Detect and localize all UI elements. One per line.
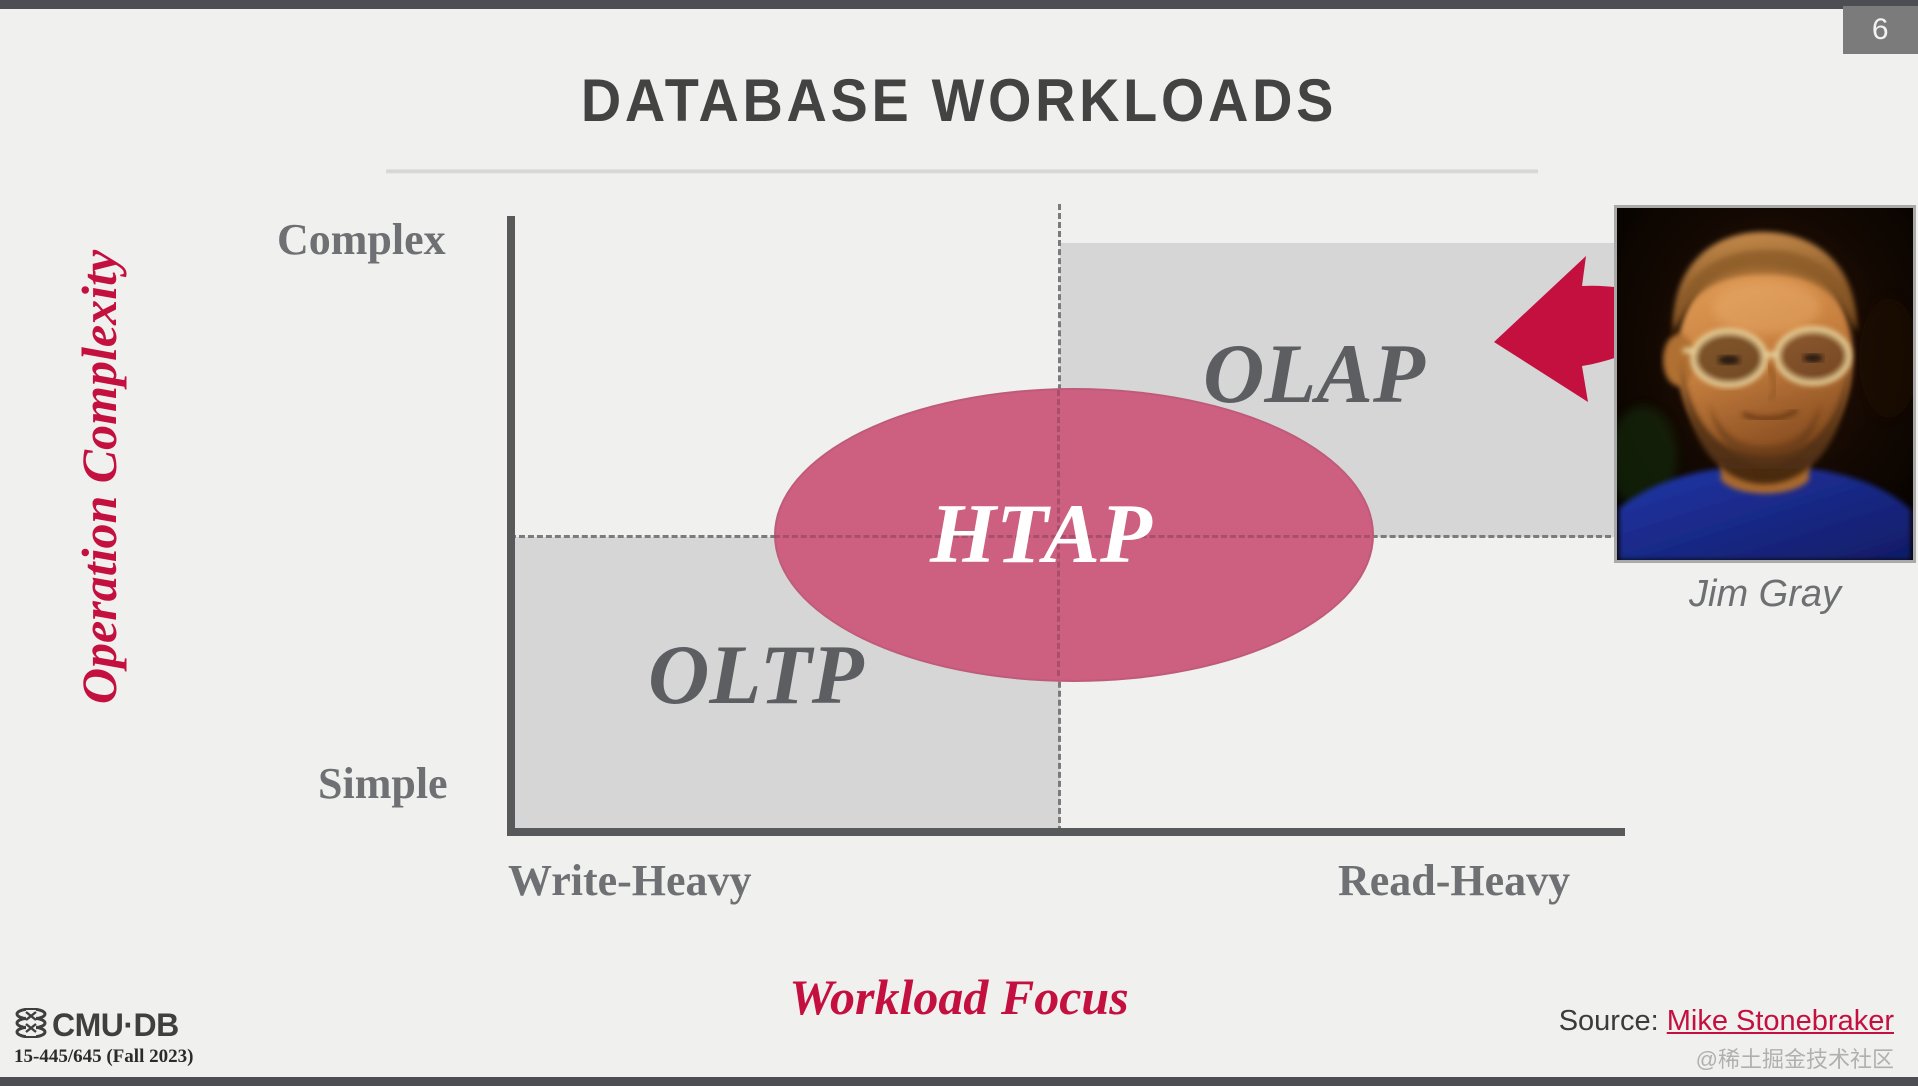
- workload-label-oltp: OLTP: [648, 626, 864, 724]
- x-tick-read-heavy: Read-Heavy: [1338, 855, 1570, 906]
- jim-gray-photo: [1614, 205, 1916, 563]
- watermark-text: @稀土掘金技术社区: [1696, 1042, 1894, 1074]
- bottom-chrome-bar: [0, 1077, 1918, 1086]
- y-tick-simple: Simple: [318, 758, 448, 809]
- portrait-caption: Jim Gray: [1614, 573, 1916, 616]
- y-axis-title: Operation Complexity: [70, 247, 128, 707]
- top-chrome-bar: [0, 0, 1918, 9]
- page-title: DATABASE WORKLOADS: [67, 66, 1851, 135]
- workload-label-olap: OLAP: [1203, 325, 1425, 423]
- portrait-block: Jim Gray: [1614, 205, 1916, 563]
- workload-label-htap: HTAP: [930, 485, 1152, 583]
- source-prefix: Source:: [1559, 1005, 1659, 1037]
- cmu-db-logo-text: CMU·DB: [52, 1007, 179, 1044]
- slide-canvas: 6 DATABASE WORKLOADS Operation Complexit…: [0, 0, 1918, 1086]
- source-line: Source: Mike Stonebraker: [1559, 1005, 1894, 1038]
- page-number-badge: 6: [1843, 6, 1918, 54]
- x-axis-line: [507, 828, 1625, 836]
- x-tick-write-heavy: Write-Heavy: [508, 855, 752, 906]
- source-link[interactable]: Mike Stonebraker: [1667, 1005, 1894, 1037]
- cmu-db-logo-block: CMU·DB 15-445/645 (Fall 2023): [14, 1007, 274, 1068]
- y-axis-line: [507, 216, 515, 834]
- y-tick-complex: Complex: [277, 214, 446, 265]
- course-code-label: 15-445/645 (Fall 2023): [14, 1046, 274, 1068]
- database-cylinder-icon: [14, 1008, 48, 1043]
- title-divider: [386, 169, 1538, 174]
